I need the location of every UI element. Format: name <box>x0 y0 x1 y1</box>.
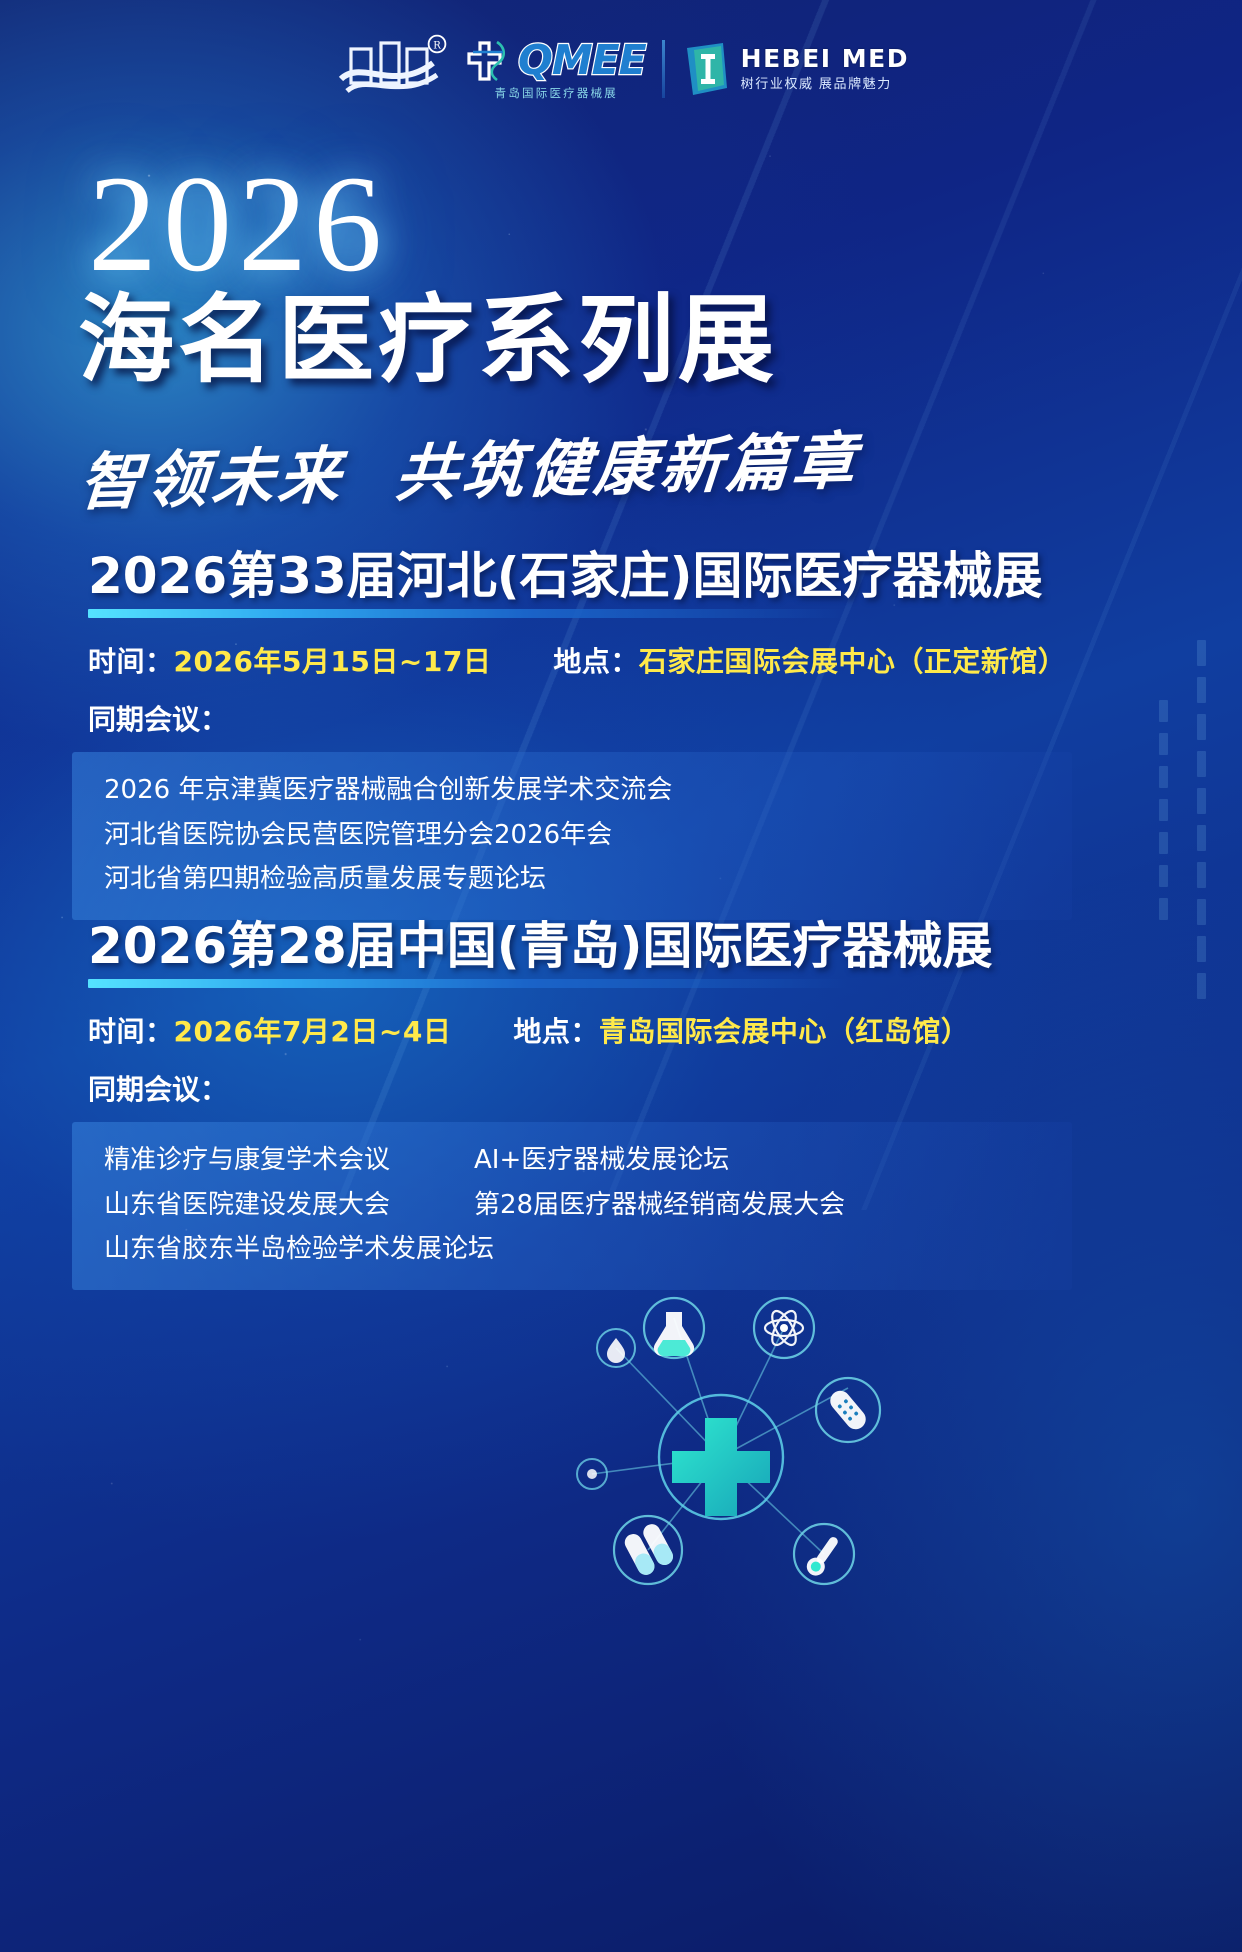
conferences-label: 同期会议： <box>88 698 1242 738</box>
qmee-cross-icon <box>467 38 513 84</box>
medical-cross-icon <box>672 1418 770 1516</box>
flask-icon <box>644 1298 704 1358</box>
thermometer-icon <box>794 1524 854 1584</box>
hero-year: 2026 <box>88 155 388 293</box>
capsule-pill-icon <box>614 1516 682 1584</box>
conference-item: 2026 年京津冀医疗器械融合创新发展学术交流会 <box>104 768 1072 813</box>
qmee-subtitle: 青岛国际医疗器械展 <box>495 85 618 101</box>
time-value: 2026年7月2日~4日 <box>174 1010 452 1050</box>
hero-slogan: 智领未来 共筑健康新篇章 <box>77 410 863 522</box>
conference-item: 河北省第四期检验高质量发展专题论坛 <box>104 857 1072 902</box>
exhibition-meta-row: 时间： 2026年5月15日~17日 地点： 石家庄国际会展中心（正定新馆） <box>88 640 1242 680</box>
qmee-logo: QMEE 青岛国际医疗器械展 <box>467 38 646 101</box>
hero-series-title: 海名医疗系列展 <box>78 288 778 392</box>
conference-column-right: AI+医疗器械发展论坛 第28届医疗器械经销商发展大会 <box>474 1138 845 1272</box>
hebei-med-slogan: 树行业权威 展品牌魅力 <box>741 73 909 92</box>
droplet-icon <box>597 1329 635 1367</box>
atom-icon <box>754 1298 814 1358</box>
small-node-icon <box>577 1459 607 1489</box>
venue-label: 地点： <box>513 1010 599 1050</box>
bandage-icon <box>816 1378 880 1442</box>
hebei-med-wordmark: HEBEI MED <box>741 46 909 71</box>
haiming-logo: R <box>333 33 451 105</box>
hebei-med-logo: HEBEI MED 树行业权威 展品牌魅力 <box>681 40 909 98</box>
hebei-monogram-icon <box>681 40 733 98</box>
logo-divider <box>662 40 665 98</box>
conference-list-panel: 精准诊疗与康复学术会议 山东省医院建设发展大会 山东省胶东半岛检验学术发展论坛 … <box>72 1122 1072 1290</box>
conference-item: 河北省医院协会民营医院管理分会2026年会 <box>104 813 1072 858</box>
venue-value: 青岛国际会展中心（红岛馆） <box>599 1010 970 1050</box>
conference-column-left: 精准诊疗与康复学术会议 山东省医院建设发展大会 山东省胶东半岛检验学术发展论坛 <box>104 1138 474 1272</box>
exhibition-title: 2026第33届河北(石家庄)国际医疗器械展 <box>88 548 1242 604</box>
exhibition-title: 2026第28届中国(青岛)国际医疗器械展 <box>88 918 1242 974</box>
venue-value: 石家庄国际会展中心（正定新馆） <box>639 640 1067 680</box>
time-value: 2026年5月15日~17日 <box>174 640 492 680</box>
registered-mark-icon: R <box>429 36 446 53</box>
conference-item: 山东省胶东半岛检验学术发展论坛 <box>104 1227 474 1272</box>
time-label: 时间： <box>88 640 174 680</box>
svg-text:R: R <box>433 41 441 52</box>
conference-item: 精准诊疗与康复学术会议 <box>104 1138 474 1183</box>
conference-item: 第28届医疗器械经销商发展大会 <box>474 1183 845 1228</box>
exhibition-meta-row: 时间： 2026年7月2日~4日 地点： 青岛国际会展中心（红岛馆） <box>88 1010 1242 1050</box>
conferences-label: 同期会议： <box>88 1068 1242 1108</box>
title-underline <box>88 609 848 618</box>
conference-item: AI+医疗器械发展论坛 <box>474 1138 845 1183</box>
poster-root: R QMEE 青岛国际医疗器械展 <box>0 0 1242 1952</box>
logo-bar: R QMEE 青岛国际医疗器械展 <box>0 30 1242 108</box>
exhibition-block-qingdao: 2026第28届中国(青岛)国际医疗器械展 时间： 2026年7月2日~4日 地… <box>0 918 1242 1290</box>
time-label: 时间： <box>88 1010 174 1050</box>
conference-list-panel: 2026 年京津冀医疗器械融合创新发展学术交流会 河北省医院协会民营医院管理分会… <box>72 752 1072 920</box>
medical-icon-cluster <box>556 1292 886 1622</box>
qmee-wordmark: QMEE <box>518 41 646 80</box>
venue-label: 地点： <box>553 640 639 680</box>
conference-item: 山东省医院建设发展大会 <box>104 1183 474 1228</box>
exhibition-block-hebei: 2026第33届河北(石家庄)国际医疗器械展 时间： 2026年5月15日~17… <box>0 548 1242 920</box>
center-ring <box>659 1395 783 1519</box>
title-underline <box>88 979 848 988</box>
